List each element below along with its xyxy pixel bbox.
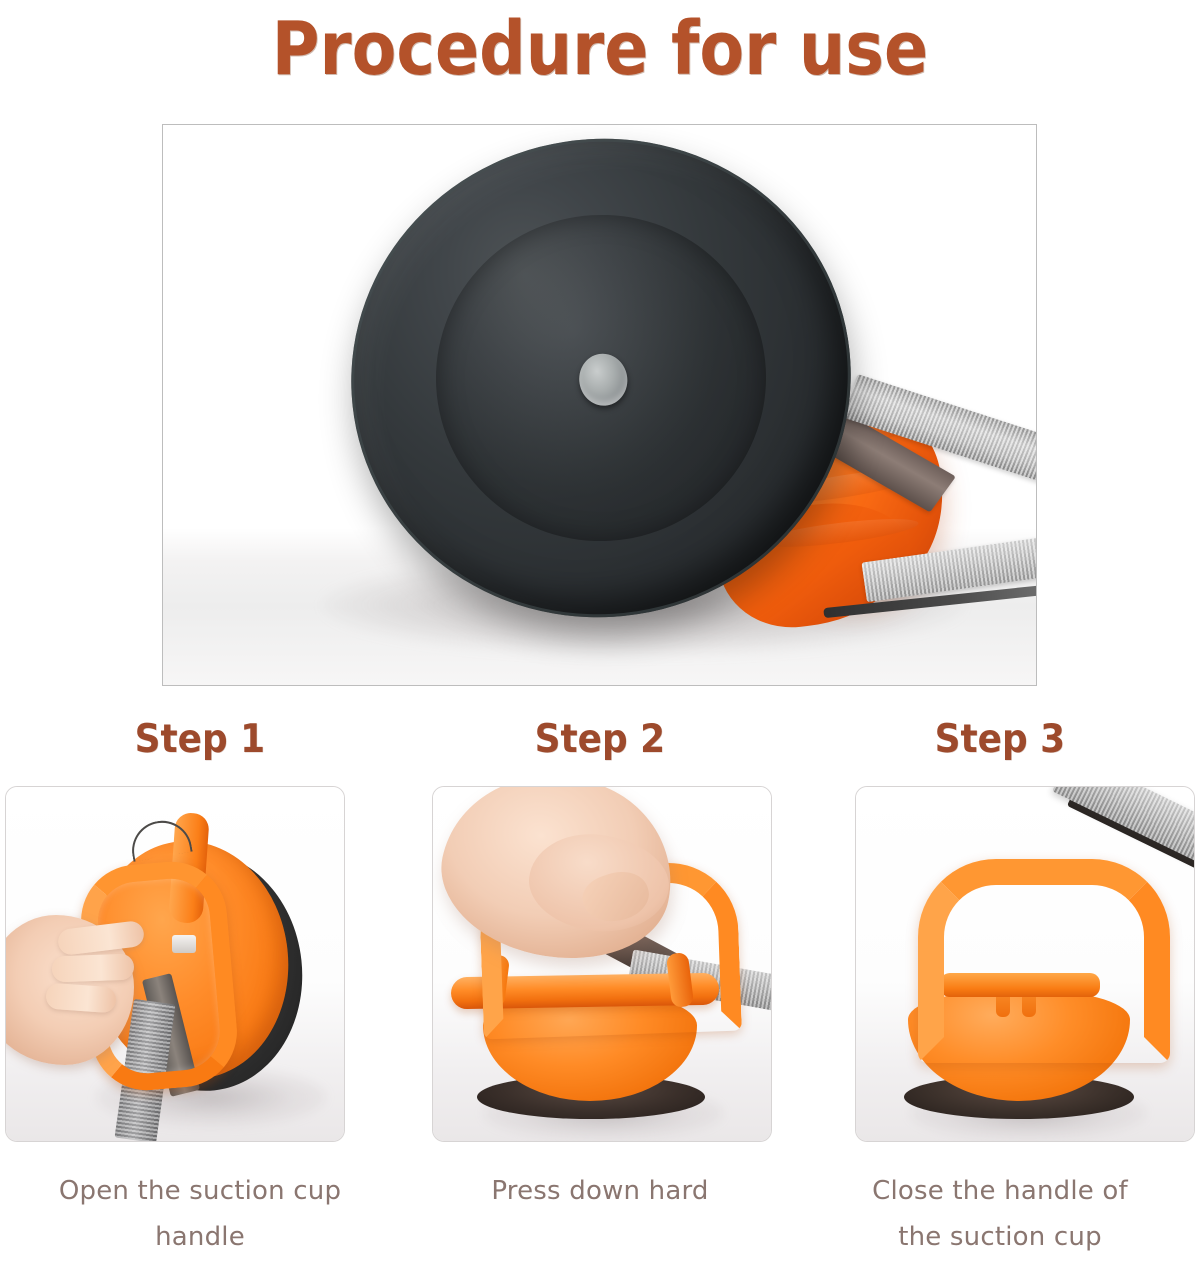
step-3-photo [856,787,1194,1141]
step-labels-row: Step 1 Step 2 Step 3 [0,716,1200,764]
step-2-photo [433,787,771,1141]
step-2-thumbnail [432,786,772,1142]
step-label-cell-3: Step 3 [800,716,1200,764]
step-1-caption-cell: Open the suction cup handle [0,1168,400,1260]
step-3-caption: Close the handle of the suction cup [818,1168,1182,1260]
step-1-finger [52,954,135,983]
step-label-cell-1: Step 1 [0,716,400,764]
hero-product-photo [163,125,1036,685]
step-2-label: Step 2 [535,716,665,764]
step-1-finger [45,983,117,1014]
step-1-label: Step 1 [135,716,265,764]
step-captions-row: Open the suction cup handle Press down h… [0,1168,1200,1260]
step-1-caption: Open the suction cup handle [18,1168,382,1260]
step-3-handle-closed [918,859,1170,1063]
step-1-thumbnail [5,786,345,1142]
step-2-caption-cell: Press down hard [400,1168,800,1260]
step-3-thumbnail [855,786,1195,1142]
page-title: Procedure for use [72,6,1128,92]
step-label-cell-2: Step 2 [400,716,800,764]
step-1-latch [172,935,196,953]
hero-image-frame [162,124,1037,686]
step-1-photo [6,787,344,1141]
step-3-caption-cell: Close the handle of the suction cup [800,1168,1200,1260]
step-thumbnails-row [0,786,1200,1142]
step-2-caption: Press down hard [418,1168,782,1214]
step-3-label: Step 3 [935,716,1065,764]
